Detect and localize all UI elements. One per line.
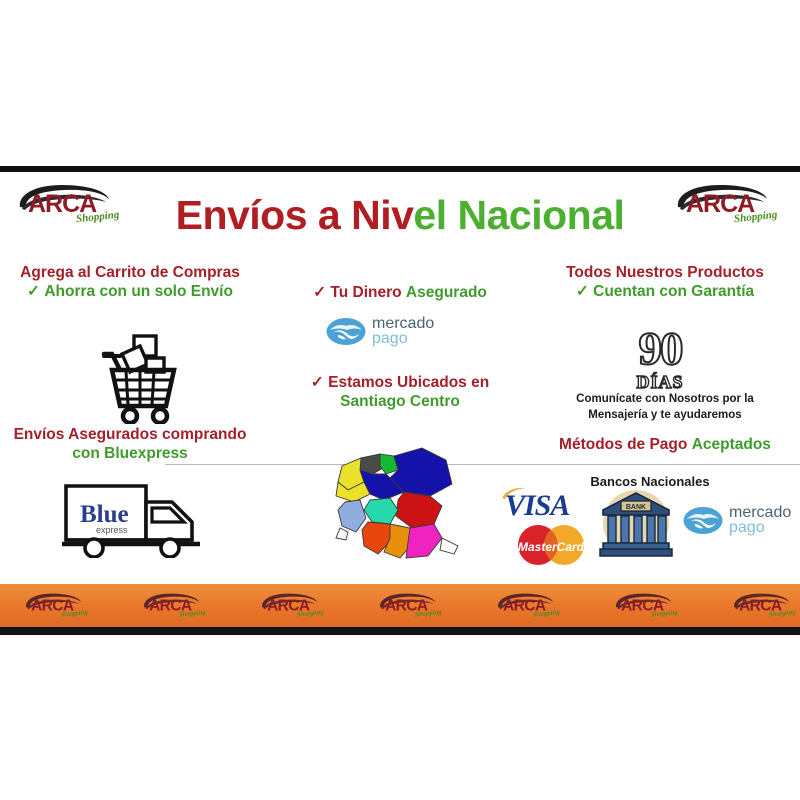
mercado-pago-word-bottom: pago: [729, 520, 791, 535]
shopping-cart-icon: [78, 332, 188, 424]
warranty-note: Comunícate con Nosotros por la Mensajerí…: [540, 392, 790, 423]
footer-arca-logo: ARCAShopping: [612, 591, 685, 622]
page-title: Envíos a Nivel Nacional: [0, 192, 800, 239]
mastercard-logo: MasterCard: [508, 524, 594, 566]
cart-heading-green: Ahorra con un solo Envío: [44, 283, 233, 300]
footer-arca-logo: ARCAShopping: [140, 591, 213, 622]
mercado-pago-handshake-icon: [326, 317, 366, 346]
location-heading-green: Santiago Centro: [280, 393, 520, 412]
feature-location: ✓ Estamos Ubicados en Santiago Centro: [280, 374, 520, 412]
location-heading-row: ✓ Estamos Ubicados en: [280, 374, 520, 393]
location-heading-red: Estamos Ubicados en: [328, 374, 489, 391]
bluexpress-word: Blue: [80, 501, 129, 528]
cart-heading-red: Agrega al Carrito de Compras: [0, 264, 260, 283]
footer-arca-logo: ARCAShopping: [258, 591, 331, 622]
footer-arca-logo: ARCAShopping: [730, 591, 800, 622]
mercado-pago-handshake-icon: [683, 506, 723, 535]
feature-money: ✓ Tu Dinero Asegurado: [280, 284, 520, 303]
warranty-heading-green-row: ✓ Cuentan con Garantía: [530, 283, 800, 302]
bank-building-icon: BANK: [597, 484, 675, 562]
santiago-region-map: [318, 440, 478, 570]
warranty-heading-green: Cuentan con Garantía: [593, 283, 754, 300]
arca-logo-tagline: Shopping: [61, 608, 89, 618]
feature-shipping: Envíos Asegurados comprando con Bluexpre…: [0, 426, 260, 464]
check-icon: ✓: [313, 284, 326, 301]
payments-heading-red: Métodos de Pago: [559, 436, 687, 453]
arca-logo-tagline: Shopping: [769, 608, 797, 618]
feature-warranty: Todos Nuestros Productos ✓ Cuentan con G…: [530, 264, 800, 302]
check-icon: ✓: [27, 283, 40, 300]
shipping-heading-red: Envíos Asegurados comprando: [0, 426, 260, 445]
money-heading-green: Asegurado: [406, 284, 487, 301]
page-title-red: Envíos a Niv: [176, 192, 414, 238]
bank-label: BANK: [626, 504, 646, 511]
warranty-note-line1: Comunícate con Nosotros por la: [540, 392, 790, 408]
top-divider-bar: [0, 166, 800, 172]
bottom-divider-bar: [0, 627, 800, 635]
footer-logo-banner: ARCAShoppingARCAShoppingARCAShoppingARCA…: [0, 584, 800, 628]
money-heading-red: Tu Dinero: [330, 284, 401, 301]
truck-outline: Blue express: [60, 478, 220, 558]
warranty-heading-red: Todos Nuestros Productos: [530, 264, 800, 283]
feature-payments: Métodos de Pago Aceptados: [530, 436, 800, 455]
arca-logo-tagline: Shopping: [651, 608, 679, 618]
payments-heading-row: Métodos de Pago Aceptados: [530, 436, 800, 455]
mastercard-word: MasterCard: [518, 540, 585, 554]
warranty-days-unit: DÍAS: [600, 372, 720, 393]
check-icon: ✓: [311, 374, 324, 391]
arca-logo-tagline: Shopping: [415, 608, 443, 618]
check-icon: ✓: [576, 283, 589, 300]
arca-logo-tagline: Shopping: [297, 608, 325, 618]
mercado-pago-word-top: mercado: [372, 316, 434, 331]
footer-arca-logo: ARCAShopping: [22, 591, 95, 622]
cart-heading-green-row: ✓ Ahorra con un solo Envío: [0, 283, 260, 302]
arca-logo-tagline: Shopping: [179, 608, 207, 618]
shipping-heading-green: con Bluexpress: [0, 445, 260, 464]
arca-logo-tagline: Shopping: [533, 608, 561, 618]
feature-cart: Agrega al Carrito de Compras ✓ Ahorra co…: [0, 264, 260, 302]
warranty-days-number: 90: [600, 326, 720, 373]
footer-arca-logo: ARCAShopping: [494, 591, 567, 622]
delivery-truck-icon: Blue express: [60, 478, 220, 558]
bluexpress-sub: express: [96, 525, 128, 535]
money-heading-row: ✓ Tu Dinero Asegurado: [280, 284, 520, 303]
infographic-canvas: ARCA Shopping ARCA Shopping Envíos a Niv…: [0, 0, 800, 800]
mercado-pago-word-top: mercado: [729, 505, 791, 520]
mercado-pago-logo: mercado pago: [326, 316, 434, 347]
page-title-green: el Nacional: [413, 192, 624, 238]
mercado-pago-word-bottom: pago: [372, 331, 434, 346]
visa-logo: VISA: [505, 489, 569, 523]
warranty-note-line2: Mensajería y te ayudaremos: [540, 408, 790, 424]
footer-arca-logo: ARCAShopping: [376, 591, 449, 622]
mercado-pago-logo-payment: mercado pago: [683, 505, 791, 536]
payments-heading-green: Aceptados: [692, 436, 771, 453]
